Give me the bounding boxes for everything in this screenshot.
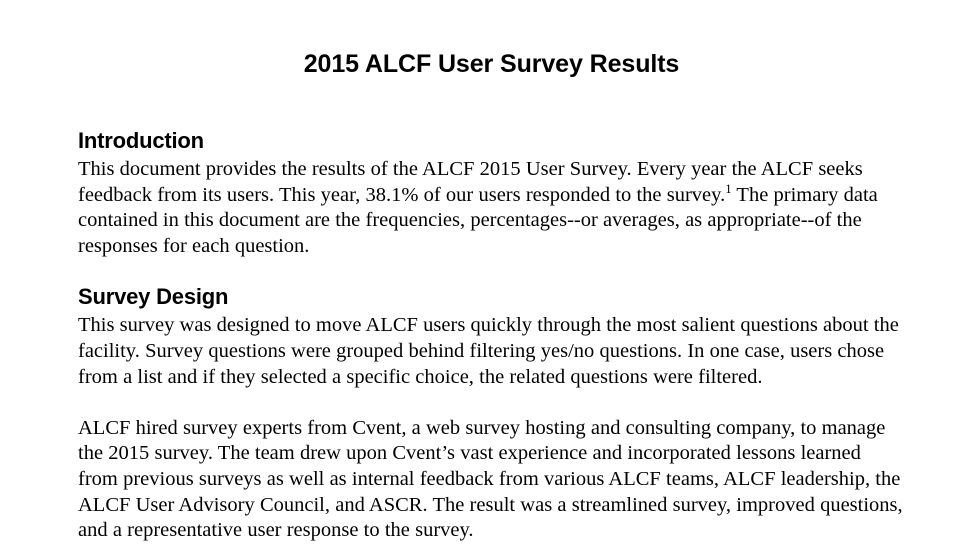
section-heading-survey-design: Survey Design [78,284,905,310]
paragraph-survey-design-1: This survey was designed to move ALCF us… [78,313,905,390]
paragraph-introduction: This document provides the results of th… [78,157,905,259]
section-heading-introduction: Introduction [78,128,905,154]
page-title: 2015 ALCF User Survey Results [78,0,905,79]
document-page: 2015 ALCF User Survey Results Introducti… [0,0,965,543]
paragraph-survey-design-2: ALCF hired survey experts from Cvent, a … [78,416,905,544]
